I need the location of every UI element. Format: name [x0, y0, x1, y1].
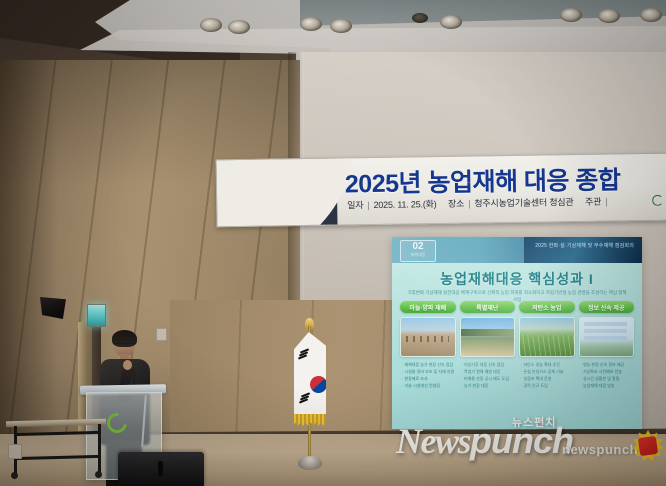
downlight-icon [640, 8, 662, 22]
podium-logo-icon [103, 409, 131, 437]
slide-header-strip-text: 2025 한파·설·기상재해 및 무수재해 점검회의 [535, 242, 634, 249]
table-caster [11, 472, 18, 479]
green-crop-field-photo [519, 317, 575, 357]
presenter-hand [123, 360, 132, 370]
banner-date-value: 2025. 11. 25.(화) [373, 199, 436, 210]
slide-column: 특별재난 · 이상기후 대응 신속 점검 · 폭염기 열해 예방 대응 · 피해… [460, 301, 516, 389]
slide-badge-caption: 재해대응 [401, 252, 435, 258]
column-bullets: · 이상기후 대응 신속 점검 · 폭염기 열해 예방 대응 · 피해율 산정 … [460, 361, 516, 389]
wall-plate [156, 328, 167, 341]
glasses-icon [115, 343, 134, 348]
downlight-icon [200, 18, 222, 32]
table-caster [95, 471, 102, 478]
downlight-icon [228, 20, 250, 34]
info-dashboard-photo [579, 317, 635, 357]
slide-section-badge: 02 재해대응 [400, 240, 436, 262]
slide-column: 정보 신속 제공 · 영농 현장 신속 정보 제공 · 기상특보 사전예보 전송… [579, 301, 635, 389]
bullet-line: · 농가 현장 대응 [462, 382, 516, 389]
bullet-line: · 경작 신규 도입 [521, 382, 575, 389]
hillside-farm-photo [460, 317, 516, 357]
bullet-line: · 기상특보 사전예보 전송 [581, 368, 635, 375]
downlight-icon [300, 17, 322, 31]
slide-columns: 마늘·양파 재배 · 재해대응 농가 현장 신속 점검 · 시설물 정비 보조 … [400, 301, 634, 389]
column-heading: 마늘·양파 재배 [400, 301, 456, 313]
column-bullets: · 저탄소 영농 확대 추진 · 온실 온실가스 감축 기술 · 실증포 확대 … [519, 361, 575, 389]
bullet-line: · 온실 온실가스 감축 기술 [521, 368, 575, 375]
wall-socket [8, 444, 22, 459]
column-heading: 정보 신속 제공 [579, 301, 635, 313]
banner-host-label: 주관 [585, 197, 601, 207]
bullet-line: · 실시간 상황판 및 알림 [581, 375, 635, 382]
bullet-line: · 저탄소 영농 확대 추진 [521, 361, 575, 368]
south-korea-flag [288, 318, 332, 486]
banner-place-value: 청주시농업기술센터 청심관 [474, 197, 573, 208]
banner-logo-swoosh [217, 159, 338, 227]
downlight-icon [598, 9, 620, 23]
taeguk-circle-icon [307, 373, 329, 395]
banner-sep: | [605, 197, 607, 207]
column-heading: 저탄소 농업 [519, 301, 575, 313]
flag-cloth [294, 332, 326, 418]
floor-monitor-speaker [118, 452, 204, 486]
slide-column: 저탄소 농업 · 저탄소 영농 확대 추진 · 온실 온실가스 감축 기술 · … [519, 301, 575, 389]
banner-sep: | [468, 199, 470, 209]
bullet-line: · 시설물 정비 보조 및 자재 지원 [402, 368, 456, 375]
bullet-line: · 재해대응 농가 현장 신속 점검 [402, 361, 456, 368]
presentation-slide: 2025 한파·설·기상재해 및 무수재해 점검회의 02 재해대응 농업재해대… [392, 237, 642, 429]
slide-top-bar-image [524, 237, 642, 263]
bullet-line: · 영농 현장 신속 정보 제공 [581, 361, 635, 368]
bullet-line: · 이상기후 대응 신속 점검 [462, 361, 516, 368]
bullet-line: · 현장애로 조사 [402, 375, 456, 382]
podium-cable [141, 395, 147, 447]
event-banner: 2025년 농업재해 대응 종합 일자|2025. 11. 25.(화) 장소|… [216, 153, 666, 228]
downlight-icon [330, 19, 352, 33]
column-bullets: · 재해대응 농가 현장 신속 점검 · 시설물 정비 보조 및 자재 지원 ·… [400, 361, 456, 389]
bullet-line: · 폭염기 열해 예방 대응 [462, 368, 516, 375]
slide-badge-number: 02 [401, 241, 435, 252]
screenshot-root: 5 6 0 7 8 2 3 6 7 [0, 0, 666, 486]
projection-screen: 2025 한파·설·기상재해 및 무수재해 점검회의 02 재해대응 농업재해대… [392, 237, 642, 429]
column-bullets: · 영농 현장 신속 정보 제공 · 기상특보 사전예보 전송 · 실시간 상황… [579, 361, 635, 389]
bullet-line: · 기술·시설개선 컨설팅 [402, 382, 456, 389]
flag-stand-base [298, 456, 322, 470]
banner-place-label: 장소 [448, 199, 464, 209]
slide-title: 농업재해대응 핵심성과 I [392, 269, 642, 289]
column-heading: 특별재난 [460, 301, 516, 313]
banner-sep: | [367, 200, 369, 210]
slide-column: 마늘·양파 재배 · 재해대응 농가 현장 신속 점검 · 시설물 정비 보조 … [400, 301, 456, 389]
downlight-icon [412, 13, 428, 23]
bullet-line: · 농업재해 대응 방송 [581, 382, 635, 389]
bullet-line: · 피해율 산정 공시 제도 도입 [462, 375, 516, 382]
field-workers-photo [400, 317, 456, 357]
exit-sign-icon [87, 304, 106, 327]
downlight-icon [560, 8, 582, 22]
banner-date-label: 일자 [347, 200, 363, 210]
bullet-line: · 실증포 확대 운영 [521, 375, 575, 382]
downlight-icon [440, 15, 462, 29]
